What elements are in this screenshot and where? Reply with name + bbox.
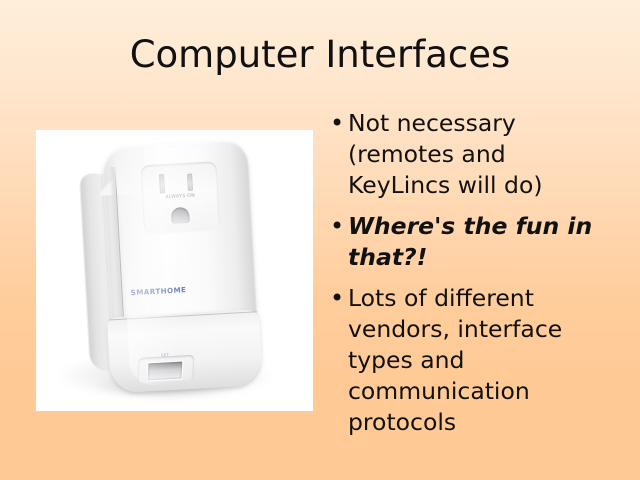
slide-canvas: Computer Interfaces ALWAYS ON bbox=[0, 0, 640, 480]
outlet-slot-neutral bbox=[159, 174, 165, 193]
bullet-text: Where's the fun in that?! bbox=[348, 211, 615, 273]
device-corner-bevel bbox=[98, 147, 146, 195]
bullet-marker-icon: • bbox=[330, 108, 348, 139]
product-image-frame: ALWAYS ON SMARTHOME SET bbox=[36, 130, 313, 411]
list-item: • Not necessary (remotes and KeyLincs wi… bbox=[330, 108, 615, 201]
outlet-ground-hole bbox=[171, 207, 190, 224]
page-title: Computer Interfaces bbox=[0, 33, 640, 77]
device-body: ALWAYS ON SMARTHOME SET bbox=[77, 133, 263, 394]
always-on-label: ALWAYS ON bbox=[142, 192, 218, 201]
bullet-text: Lots of different vendors, interface typ… bbox=[348, 283, 615, 438]
smarthome-module-photo: ALWAYS ON SMARTHOME SET bbox=[36, 130, 313, 411]
bullet-text: Not necessary (remotes and KeyLincs will… bbox=[348, 108, 615, 201]
set-button bbox=[147, 360, 184, 381]
outlet-slot-hot bbox=[187, 174, 193, 191]
outlet-receptacle: ALWAYS ON bbox=[140, 161, 220, 235]
bullet-list: • Not necessary (remotes and KeyLincs wi… bbox=[330, 108, 615, 448]
bullet-marker-icon: • bbox=[330, 211, 348, 242]
bullet-marker-icon: • bbox=[330, 283, 348, 314]
list-item: • Lots of different vendors, interface t… bbox=[330, 283, 615, 438]
list-item: • Where's the fun in that?! bbox=[330, 211, 615, 273]
